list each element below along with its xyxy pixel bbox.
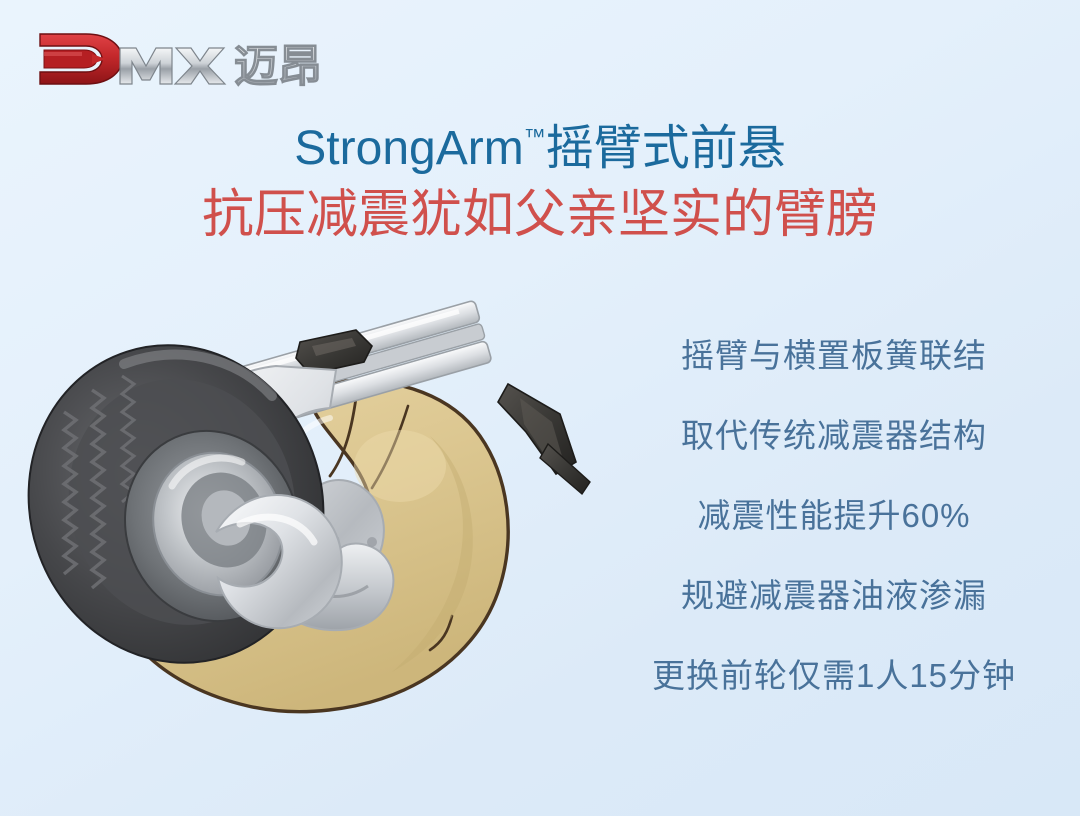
spring-bracket-right <box>498 384 590 494</box>
dmx-logo-svg: 迈昂 <box>34 28 324 90</box>
trademark-symbol: ™ <box>524 124 546 149</box>
feature-item-1: 摇臂与横置板簧联结 <box>624 336 1044 376</box>
logo-chinese-text: 迈昂 <box>234 41 322 90</box>
logo-chinese-characters: 迈昂 <box>234 41 322 90</box>
strongarm-suspension-illustration <box>0 286 620 816</box>
title-chinese: 摇臂式前悬 <box>546 122 786 175</box>
title-english: StrongArm <box>294 122 523 175</box>
page-title: StrongArm™摇臂式前悬 <box>0 108 1080 178</box>
illustration-svg <box>0 286 620 816</box>
feature-item-3: 减震性能提升60% <box>624 496 1044 536</box>
page-subtitle: 抗压减震犹如父亲坚实的臂膀 <box>0 184 1080 246</box>
swing-arm-bolt <box>367 537 377 547</box>
feature-list: 摇臂与横置板簧联结 取代传统减震器结构 减震性能提升60% 规避减震器油液渗漏 … <box>624 336 1044 696</box>
feature-item-2: 取代传统减震器结构 <box>624 416 1044 456</box>
title-block: StrongArm™摇臂式前悬 抗压减震犹如父亲坚实的臂膀 <box>0 108 1080 246</box>
poster-canvas: 迈昂 StrongArm™摇臂式前悬 抗压减震犹如父亲坚实的臂膀 摇臂与横置板簧… <box>0 0 1080 816</box>
logo-d-mark <box>40 34 122 84</box>
dmx-logo: 迈昂 <box>34 28 324 90</box>
feature-item-4: 规避减震器油液渗漏 <box>624 576 1044 616</box>
feature-item-5: 更换前轮仅需1人15分钟 <box>624 656 1044 696</box>
